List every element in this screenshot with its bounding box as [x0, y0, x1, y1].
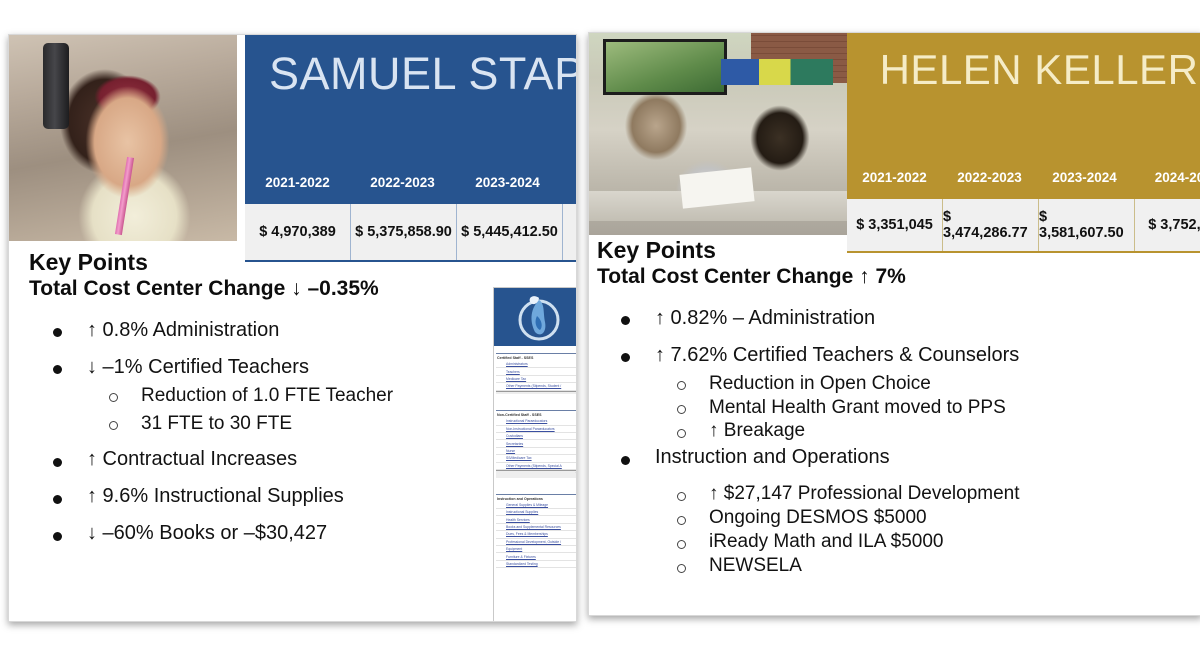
year-header-cell: 2023-2024	[455, 175, 560, 190]
year-header-cell: 2023-2024	[1037, 170, 1132, 185]
key-points-list: ↑ 0.82% – Administration ↑ 7.62% Certifi…	[597, 306, 1097, 579]
sub-list-item: NEWSELA	[655, 554, 1097, 578]
sub-list-item: Ongoing DESMOS $5000	[655, 506, 1097, 530]
list-item-label: Instruction and Operations	[655, 446, 890, 468]
list-item: ↓ –60% Books or –$30,427	[29, 521, 499, 546]
spreadsheet-row: Books and Supplemental Resources	[496, 524, 577, 531]
key-points-heading: Key Points	[597, 237, 1097, 263]
year-header-cell: 2021-2022	[245, 175, 350, 190]
sub-list-item: iReady Math and ILA $5000	[655, 530, 1097, 554]
spreadsheet-row: Equipment	[496, 546, 577, 553]
list-item: ↑ Contractual Increases	[29, 447, 499, 472]
budget-value-cell: $ 3,752,66	[1135, 199, 1200, 251]
spreadsheet-row: Dues, Fees & Memberships	[496, 531, 577, 538]
sub-list-item: Reduction in Open Choice	[655, 372, 1097, 396]
budget-spreadsheet-thumbnail-left[interactable]: Certified Staff - SSES Administrators Te…	[493, 287, 577, 622]
spacer	[496, 478, 577, 490]
key-points-left: Key Points Total Cost Center Change ↓ –0…	[29, 249, 499, 546]
slide-samuel-staples[interactable]: SAMUEL STAPLES 2021-2022 2022-2023 2023-…	[8, 34, 577, 622]
school-title-left: SAMUEL STAPLES	[245, 51, 577, 96]
spreadsheet-row: Professional Development, Outside /	[496, 539, 577, 546]
spreadsheet-row: Instructional Supplies	[496, 509, 577, 516]
section-title: Non-Certified Staff - SSES	[496, 410, 577, 418]
spreadsheet-row: Non-Instructional Paraeducators	[496, 426, 577, 433]
section-title: Certified Staff - SSES	[496, 353, 577, 361]
spreadsheet-row: Administrators	[496, 361, 577, 368]
spreadsheet-row: SS/Medicare Tax	[496, 455, 577, 462]
spreadsheet-row: Custodians	[496, 433, 577, 440]
spreadsheet-rows-left: Certified Staff - SSES Administrators Te…	[494, 346, 577, 568]
section-total: Tot	[496, 470, 577, 478]
spreadsheet-row: Medicare Tax	[496, 376, 577, 383]
spreadsheet-row: Furniture & Fixtures	[496, 553, 577, 560]
pencil-shape	[115, 157, 134, 235]
spreadsheet-row: General Supplies & Mileage	[496, 502, 577, 509]
classroom-photo-left	[9, 35, 237, 241]
year-header-row-left: 2021-2022 2022-2023 2023-2024 2(	[245, 175, 577, 190]
sub-list-item: Mental Health Grant moved to PPS	[655, 396, 1097, 420]
spreadsheet-row: Standardized Testing	[496, 561, 577, 568]
key-points-list: ↑ 0.8% Administration ↓ –1% Certified Te…	[29, 318, 499, 547]
school-title-right: HELEN KELLER	[847, 49, 1200, 91]
list-item: ↑ 0.8% Administration	[29, 318, 499, 343]
total-cost-center-change: Total Cost Center Change ↑ 7%	[597, 265, 1097, 289]
year-header-cell: 2(	[560, 175, 577, 190]
list-item: Instruction and Operations ↑ $27,147 Pro…	[597, 445, 1097, 578]
section-title: Instruction and Operations	[496, 494, 577, 502]
sub-list-item: 31 FTE to 30 FTE	[87, 412, 499, 436]
sub-list: Reduction in Open Choice Mental Health G…	[655, 372, 1097, 444]
spacer	[496, 394, 577, 406]
school-banner-right: HELEN KELLER 2021-2022 2022-2023 2023-20…	[847, 33, 1200, 199]
sub-list-item: ↑ $27,147 Professional Development	[655, 482, 1097, 506]
spreadsheet-row: Teachers	[496, 368, 577, 375]
spreadsheet-row: Other Payments (Stipends, Student /	[496, 383, 577, 390]
spreadsheet-row: Secretaries	[496, 440, 577, 447]
spreadsheet-row: Nurse	[496, 448, 577, 455]
sub-list-item: ↑ Breakage	[655, 419, 1097, 443]
total-cost-center-change: Total Cost Center Change ↓ –0.35%	[29, 277, 499, 301]
slide-comparison-view: SAMUEL STAPLES 2021-2022 2022-2023 2023-…	[0, 0, 1200, 656]
list-item-label: ↑ 7.62% Certified Teachers & Counselors	[655, 344, 1019, 366]
key-points-heading: Key Points	[29, 249, 499, 275]
sub-list: Reduction of 1.0 FTE Teacher 31 FTE to 3…	[87, 384, 499, 436]
list-item-label: ↓ –1% Certified Teachers	[87, 356, 309, 378]
budget-value-cell: 5,6	[563, 204, 577, 260]
window-shape	[603, 39, 727, 95]
year-header-cell: 2022-2023	[942, 170, 1037, 185]
spreadsheet-row: Health Services	[496, 516, 577, 523]
list-item: ↑ 0.82% – Administration	[597, 306, 1097, 331]
sub-list: ↑ $27,147 Professional Development Ongoi…	[655, 482, 1097, 578]
storage-bins-shape	[721, 59, 833, 85]
year-header-cell: 2024-20	[1132, 170, 1200, 185]
year-header-cell: 2022-2023	[350, 175, 455, 190]
sub-list-item: Reduction of 1.0 FTE Teacher	[87, 384, 499, 408]
list-item: ↑ 9.6% Instructional Supplies	[29, 484, 499, 509]
year-header-cell: 2021-2022	[847, 170, 942, 185]
list-item: ↓ –1% Certified Teachers Reduction of 1.…	[29, 355, 499, 436]
spreadsheet-row: Other Payments (Stipends, Special A	[496, 463, 577, 470]
classroom-photo-right	[589, 33, 847, 235]
school-banner-left: SAMUEL STAPLES 2021-2022 2022-2023 2023-…	[245, 35, 577, 204]
dolphin-logo-icon	[494, 288, 577, 346]
key-points-right: Key Points Total Cost Center Change ↑ 7%…	[597, 237, 1097, 580]
spreadsheet-row: Instructional Paraeducators	[496, 418, 577, 425]
slide-helen-keller[interactable]: HELEN KELLER 2021-2022 2022-2023 2023-20…	[588, 32, 1200, 616]
year-header-row-right: 2021-2022 2022-2023 2023-2024 2024-20	[847, 170, 1200, 185]
list-item: ↑ 7.62% Certified Teachers & Counselors …	[597, 343, 1097, 444]
